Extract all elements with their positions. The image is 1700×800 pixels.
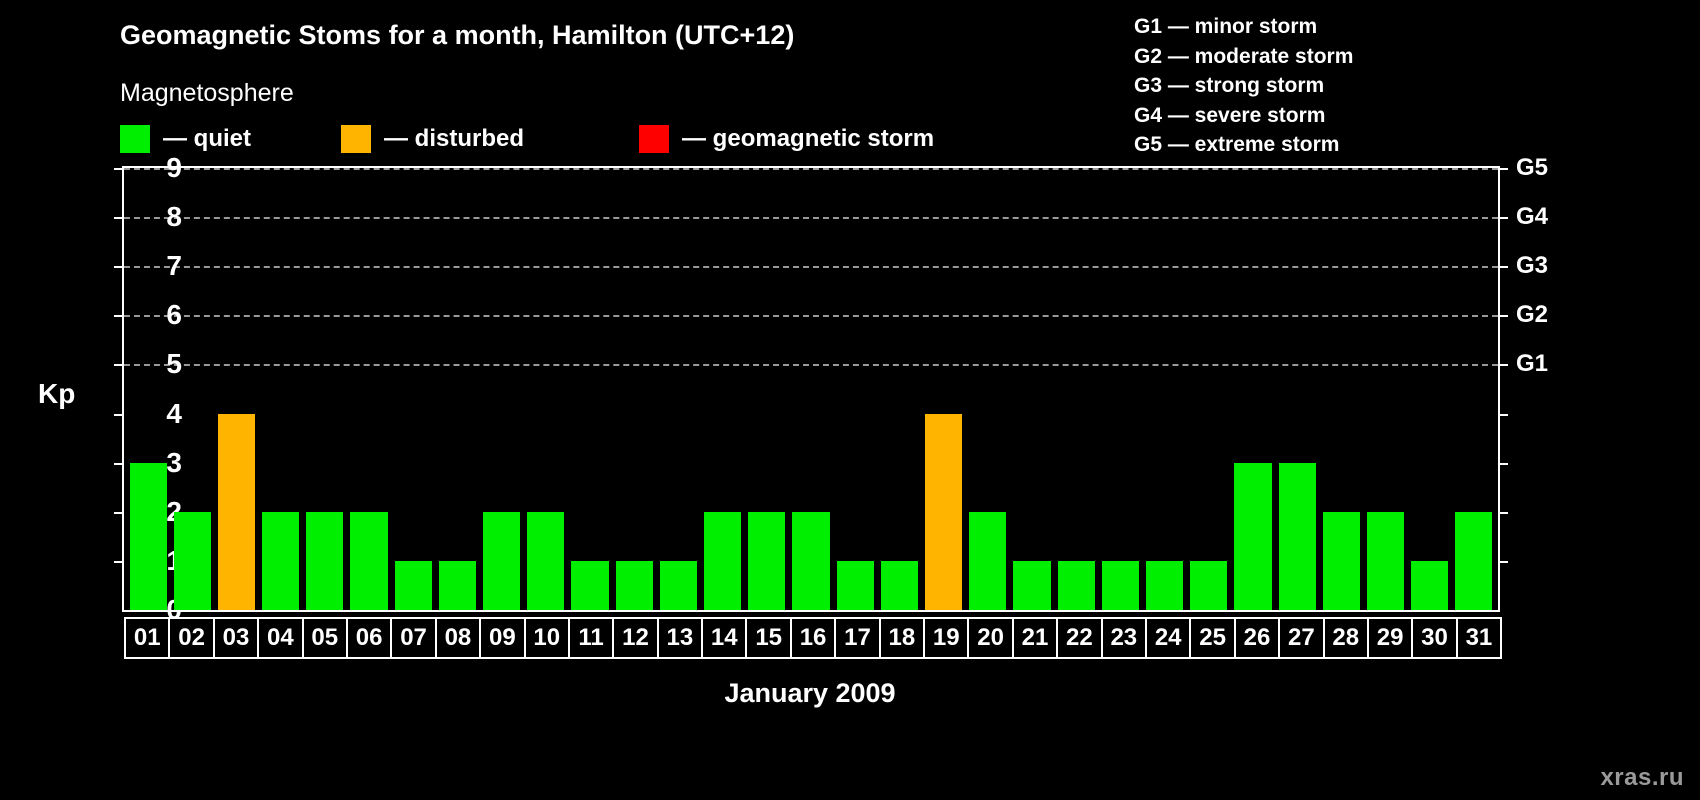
bar-day-12 [616, 561, 653, 610]
date-label-18: 18 [879, 617, 925, 659]
bar-day-18 [881, 561, 918, 610]
bar-day-10 [527, 512, 564, 610]
g-scale-row-4: G4 — severe storm [1134, 101, 1353, 131]
bar-day-23 [1102, 561, 1139, 610]
bar-day-01 [130, 463, 167, 610]
g-scale-row-1: G1 — minor storm [1134, 12, 1353, 42]
x-axis-label: January 2009 [0, 678, 1620, 709]
bar-day-08 [439, 561, 476, 610]
date-label-24: 24 [1145, 617, 1191, 659]
g-scale-row-2: G2 — moderate storm [1134, 42, 1353, 72]
bar-day-05 [306, 512, 343, 610]
y-axis-label: Kp [38, 378, 75, 410]
date-label-08: 08 [435, 617, 481, 659]
date-label-05: 05 [302, 617, 348, 659]
bar-day-11 [571, 561, 608, 610]
bar-day-06 [350, 512, 387, 610]
date-label-02: 02 [168, 617, 214, 659]
date-label-26: 26 [1234, 617, 1280, 659]
date-label-30: 30 [1411, 617, 1457, 659]
g-tick-mark-4 [1498, 414, 1508, 416]
date-label-16: 16 [790, 617, 836, 659]
date-label-19: 19 [923, 617, 969, 659]
bar-day-02 [174, 512, 211, 610]
bar-day-14 [704, 512, 741, 610]
date-label-31: 31 [1456, 617, 1502, 659]
bar-day-31 [1455, 512, 1492, 610]
bar-series [126, 168, 1496, 610]
date-label-10: 10 [524, 617, 570, 659]
g-tick-mark-3 [1498, 463, 1508, 465]
bar-day-19 [925, 414, 962, 610]
g-tick-label-G5: G5 [1516, 154, 1576, 182]
bar-day-21 [1013, 561, 1050, 610]
g-tick-mark-2 [1498, 512, 1508, 514]
date-label-04: 04 [257, 617, 303, 659]
date-label-17: 17 [834, 617, 880, 659]
y-tick-mark-8 [114, 217, 124, 219]
legend-item-geomagnetic-storm: — geomagnetic storm [639, 125, 934, 153]
bar-day-30 [1411, 561, 1448, 610]
y-tick-mark-3 [114, 463, 124, 465]
legend-item-disturbed: — disturbed [341, 125, 524, 153]
g-tick-mark-5 [1498, 364, 1508, 366]
bar-day-03 [218, 414, 255, 610]
date-label-01: 01 [124, 617, 170, 659]
date-label-25: 25 [1189, 617, 1235, 659]
bar-day-24 [1146, 561, 1183, 610]
bar-day-27 [1279, 463, 1316, 610]
magnetosphere-heading: Magnetosphere [120, 79, 294, 108]
y-tick-mark-5 [114, 364, 124, 366]
y-tick-mark-6 [114, 315, 124, 317]
y-tick-mark-2 [114, 512, 124, 514]
bar-day-04 [262, 512, 299, 610]
date-label-28: 28 [1323, 617, 1369, 659]
g-scale-row-3: G3 — strong storm [1134, 71, 1353, 101]
legend-swatch-disturbed-icon [341, 125, 371, 153]
legend-label-quiet: — quiet [163, 125, 251, 153]
bar-day-22 [1058, 561, 1095, 610]
g-tick-label-G2: G2 [1516, 301, 1576, 329]
g-scale-row-5: G5 — extreme storm [1134, 130, 1353, 160]
y-tick-mark-1 [114, 561, 124, 563]
g-tick-mark-9 [1498, 168, 1508, 170]
bar-day-13 [660, 561, 697, 610]
bar-day-09 [483, 512, 520, 610]
date-label-21: 21 [1012, 617, 1058, 659]
date-label-03: 03 [213, 617, 259, 659]
date-label-27: 27 [1278, 617, 1324, 659]
date-label-09: 09 [479, 617, 525, 659]
g-tick-mark-1 [1498, 561, 1508, 563]
bar-day-07 [395, 561, 432, 610]
date-label-22: 22 [1056, 617, 1102, 659]
g-scale-legend: G1 — minor stormG2 — moderate stormG3 — … [1134, 12, 1353, 160]
g-tick-label-G4: G4 [1516, 203, 1576, 231]
date-label-13: 13 [657, 617, 703, 659]
legend-label-geomagnetic-storm: — geomagnetic storm [682, 125, 934, 153]
legend-item-quiet: — quiet [120, 125, 251, 153]
bar-day-26 [1234, 463, 1271, 610]
date-label-23: 23 [1101, 617, 1147, 659]
date-label-15: 15 [745, 617, 791, 659]
y-tick-mark-7 [114, 266, 124, 268]
y-tick-mark-9 [114, 168, 124, 170]
date-label-06: 06 [346, 617, 392, 659]
g-tick-label-G1: G1 [1516, 350, 1576, 378]
bar-day-28 [1323, 512, 1360, 610]
g-tick-mark-8 [1498, 217, 1508, 219]
bar-day-16 [792, 512, 829, 610]
g-tick-mark-6 [1498, 315, 1508, 317]
bar-day-20 [969, 512, 1006, 610]
date-label-12: 12 [612, 617, 658, 659]
magnetosphere-legend: — quiet— disturbed— geomagnetic storm [120, 124, 934, 154]
bar-day-15 [748, 512, 785, 610]
bar-day-25 [1190, 561, 1227, 610]
bar-day-17 [837, 561, 874, 610]
bar-day-29 [1367, 512, 1404, 610]
date-label-20: 20 [967, 617, 1013, 659]
legend-swatch-quiet-icon [120, 125, 150, 153]
y-tick-mark-4 [114, 414, 124, 416]
legend-swatch-geomagnetic-storm-icon [639, 125, 669, 153]
legend-label-disturbed: — disturbed [384, 125, 524, 153]
date-label-14: 14 [701, 617, 747, 659]
watermark: xras.ru [1600, 764, 1684, 792]
x-axis-date-labels: 0102030405060708091011121314151617181920… [124, 617, 1500, 659]
page-title: Geomagnetic Stoms for a month, Hamilton … [120, 20, 794, 51]
g-tick-mark-7 [1498, 266, 1508, 268]
date-label-29: 29 [1367, 617, 1413, 659]
date-label-11: 11 [568, 617, 614, 659]
date-label-07: 07 [390, 617, 436, 659]
g-tick-label-G3: G3 [1516, 252, 1576, 280]
